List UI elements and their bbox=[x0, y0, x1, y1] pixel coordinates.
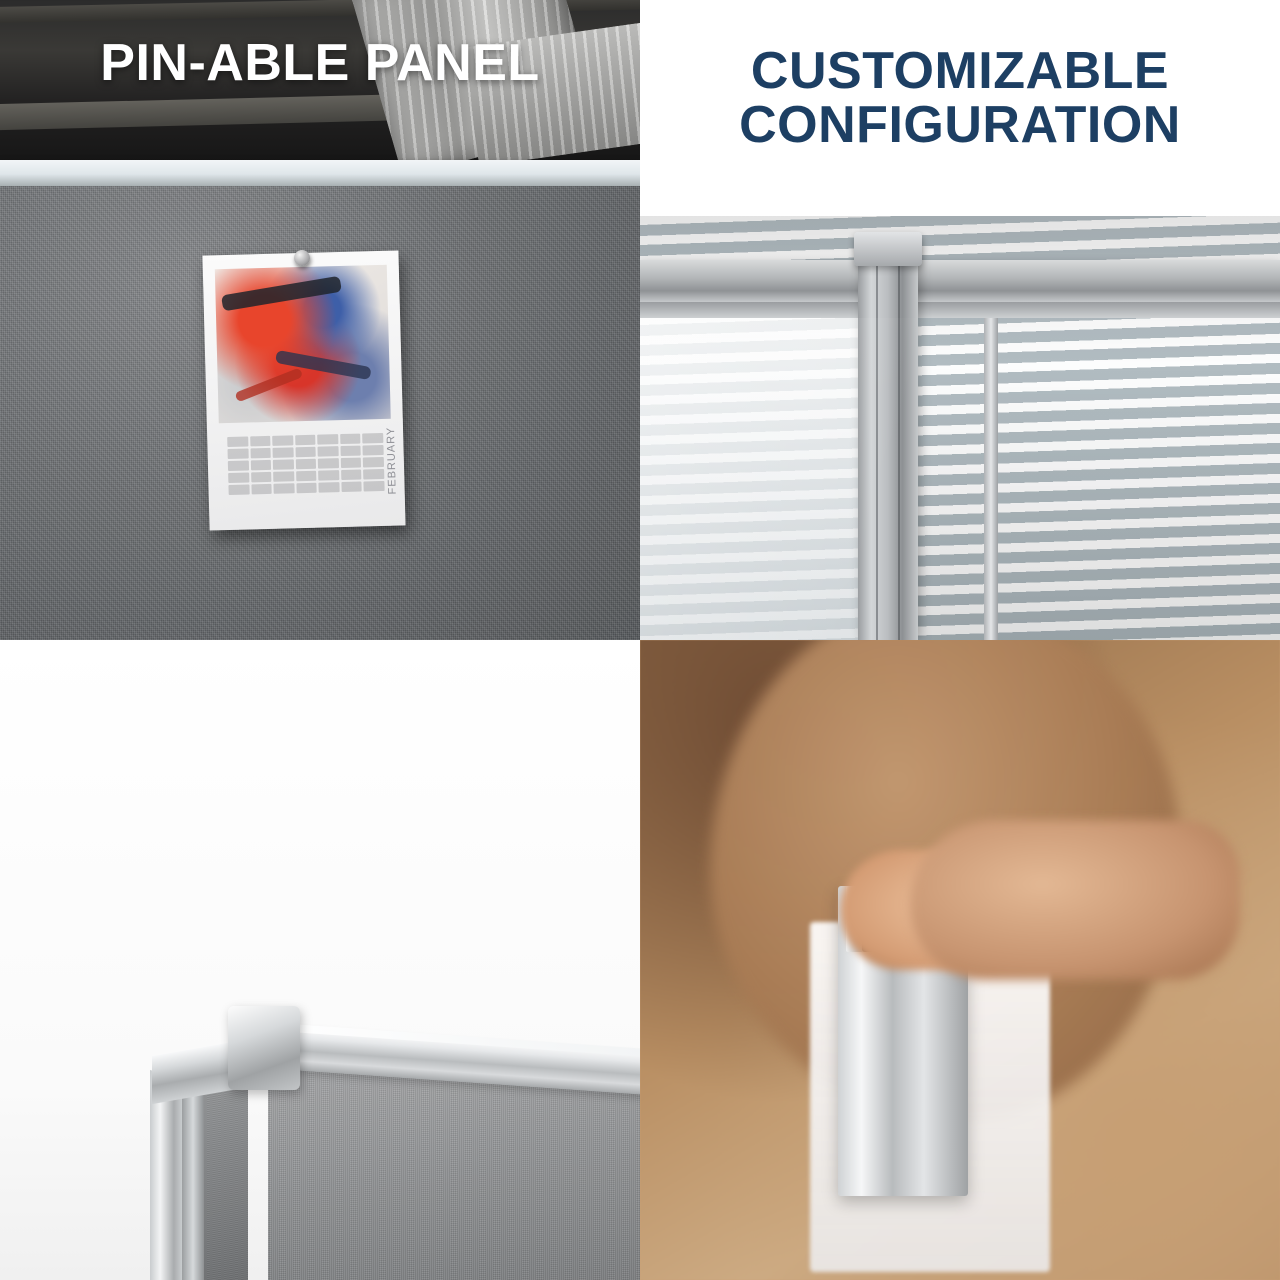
aluminum-post-inner bbox=[182, 1076, 204, 1280]
fingertip bbox=[910, 820, 1240, 980]
panel-light-aircraft-aluminum-frame: LIGHT AIRCRAFT ALUMINUM FRAME bbox=[0, 640, 640, 1280]
calendar-cell bbox=[295, 459, 316, 470]
calendar-cell bbox=[340, 446, 361, 457]
caption-line-1: CUSTOMIZABLE bbox=[640, 44, 1280, 98]
panel-toolless-assembly: TOOLLESS ASSEMBLY bbox=[640, 640, 1280, 1280]
calendar-cell bbox=[228, 448, 249, 459]
calendar-cell bbox=[295, 447, 316, 458]
calendar-cell bbox=[363, 457, 384, 468]
calendar-cell bbox=[319, 482, 340, 493]
brush-stroke-dark bbox=[221, 276, 342, 312]
calendar-cell bbox=[341, 470, 362, 481]
frame-top-rail bbox=[640, 260, 1280, 304]
push-pin-icon bbox=[294, 250, 310, 266]
calendar-cell bbox=[364, 469, 385, 480]
aluminum-corner-joint bbox=[228, 1006, 300, 1090]
calendar-cell bbox=[273, 459, 294, 470]
calendar-cell bbox=[228, 484, 249, 495]
calendar-cell bbox=[251, 484, 272, 495]
caption-pin-able-panel: PIN-ABLE PANEL bbox=[0, 36, 640, 90]
calendar-cell bbox=[363, 433, 384, 444]
calendar-cell bbox=[340, 434, 361, 445]
calendar-cell bbox=[317, 434, 338, 445]
calendar-cell bbox=[250, 460, 271, 471]
calendar-cell bbox=[228, 472, 249, 483]
pinned-calendar: FEBRUARY bbox=[202, 250, 405, 530]
feature-collage-grid: FEBRUARY PIN-ABLE PANEL CUSTOMIZABLE CON… bbox=[0, 0, 1280, 1280]
calendar-cell bbox=[272, 435, 293, 446]
frame-post-cap bbox=[854, 232, 922, 266]
calendar-cell bbox=[273, 471, 294, 482]
frame-top-rail-under bbox=[640, 302, 1280, 318]
panel-customizable-configuration: CUSTOMIZABLE CONFIGURATION bbox=[640, 0, 1280, 640]
glass-sheen bbox=[640, 318, 1280, 640]
calendar-cell bbox=[296, 483, 317, 494]
calendar-cell bbox=[227, 436, 248, 447]
caption-customizable-configuration: CUSTOMIZABLE CONFIGURATION bbox=[640, 44, 1280, 152]
calendar-month-label: FEBRUARY bbox=[385, 427, 399, 495]
calendar-cell bbox=[274, 483, 295, 494]
calendar-date-grid bbox=[227, 433, 385, 511]
calendar-cell bbox=[250, 436, 271, 447]
panel-top-rail bbox=[0, 160, 640, 188]
calendar-cell bbox=[251, 472, 272, 483]
brush-stroke-red bbox=[234, 367, 303, 402]
panel-pin-able-panel: FEBRUARY PIN-ABLE PANEL bbox=[0, 0, 640, 640]
calendar-cell bbox=[318, 446, 339, 457]
calendar-cell bbox=[341, 482, 362, 493]
calendar-cell bbox=[295, 435, 316, 446]
calendar-cell bbox=[296, 471, 317, 482]
calendar-cell bbox=[273, 447, 294, 458]
calendar-cell bbox=[341, 458, 362, 469]
calendar-cell bbox=[318, 458, 339, 469]
calendar-cell bbox=[363, 445, 384, 456]
calendar-cell bbox=[250, 448, 271, 459]
calendar-cell bbox=[228, 460, 249, 471]
frame-configuration-photo bbox=[640, 216, 1280, 640]
calendar-cell bbox=[364, 481, 385, 492]
caption-line-2: CONFIGURATION bbox=[640, 98, 1280, 152]
calendar-cell bbox=[318, 470, 339, 481]
calendar-artwork bbox=[215, 265, 391, 423]
